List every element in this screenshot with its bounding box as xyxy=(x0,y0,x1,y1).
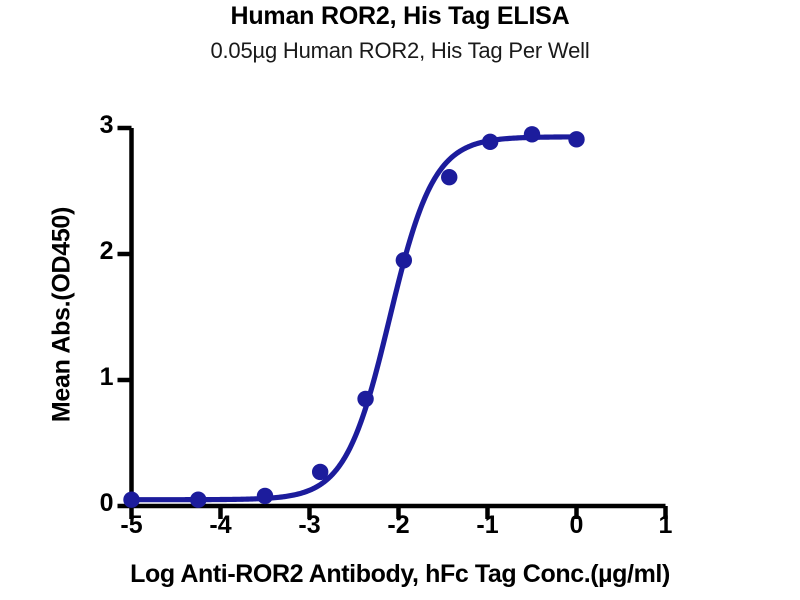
fit-curve xyxy=(132,137,577,500)
data-point xyxy=(524,126,540,142)
sigmoid-fit-line xyxy=(132,137,577,500)
y-tick-label: 3 xyxy=(74,111,114,140)
data-point xyxy=(441,169,457,185)
y-tick-label: 0 xyxy=(74,489,114,518)
chart-page: Human ROR2, His Tag ELISA 0.05µg Human R… xyxy=(0,0,800,600)
data-point xyxy=(190,492,206,508)
data-point xyxy=(257,488,273,504)
x-tick-label: -2 xyxy=(374,511,424,540)
plot-area xyxy=(0,0,800,600)
data-point xyxy=(568,131,584,147)
x-tick-label: -5 xyxy=(107,511,157,540)
data-point xyxy=(482,134,498,150)
y-tick-label: 2 xyxy=(74,237,114,266)
x-tick-label: -4 xyxy=(196,511,246,540)
y-tick-label: 1 xyxy=(74,363,114,392)
data-point xyxy=(396,252,412,268)
x-tick-label: -1 xyxy=(463,511,513,540)
x-tick-label: 0 xyxy=(552,511,602,540)
data-point-markers xyxy=(123,126,584,508)
axis-lines xyxy=(132,128,666,508)
x-tick-label: 1 xyxy=(641,511,691,540)
axis-ticks xyxy=(118,128,666,519)
x-tick-label: -3 xyxy=(285,511,335,540)
data-point xyxy=(123,492,139,508)
data-point xyxy=(357,391,373,407)
data-point xyxy=(312,464,328,480)
